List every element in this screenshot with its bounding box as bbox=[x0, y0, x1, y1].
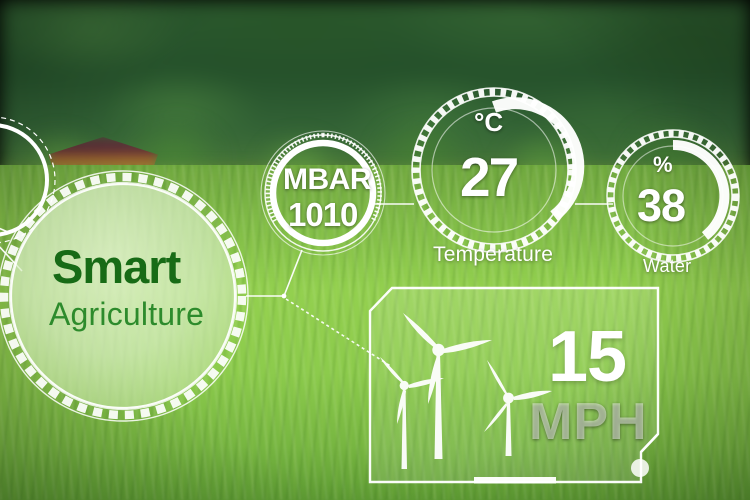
connector-junction-node bbox=[282, 294, 287, 299]
wind-speed-value: 15 bbox=[548, 316, 626, 398]
wind-speed-unit: MPH bbox=[529, 392, 648, 452]
pressure-value: 1010 bbox=[288, 196, 357, 234]
connector-junction-pressure bbox=[284, 250, 302, 296]
temperature-label: Temperature bbox=[433, 243, 553, 267]
water-unit: % bbox=[653, 152, 673, 178]
water-label: Water bbox=[643, 256, 691, 277]
wind-panel-corner-dot bbox=[631, 459, 649, 477]
temperature-value: 27 bbox=[460, 145, 517, 209]
water-value: 38 bbox=[637, 180, 685, 232]
dashboard-screenshot: Smart Agriculture MBAR 1010 °C 27 Temper… bbox=[0, 0, 750, 500]
brand-subtitle: Agriculture bbox=[49, 296, 204, 333]
wind-panel-bottom-bar bbox=[474, 477, 556, 484]
brand-title: Smart bbox=[52, 239, 180, 294]
temperature-unit: °C bbox=[474, 107, 503, 138]
pressure-unit: MBAR bbox=[283, 163, 371, 197]
